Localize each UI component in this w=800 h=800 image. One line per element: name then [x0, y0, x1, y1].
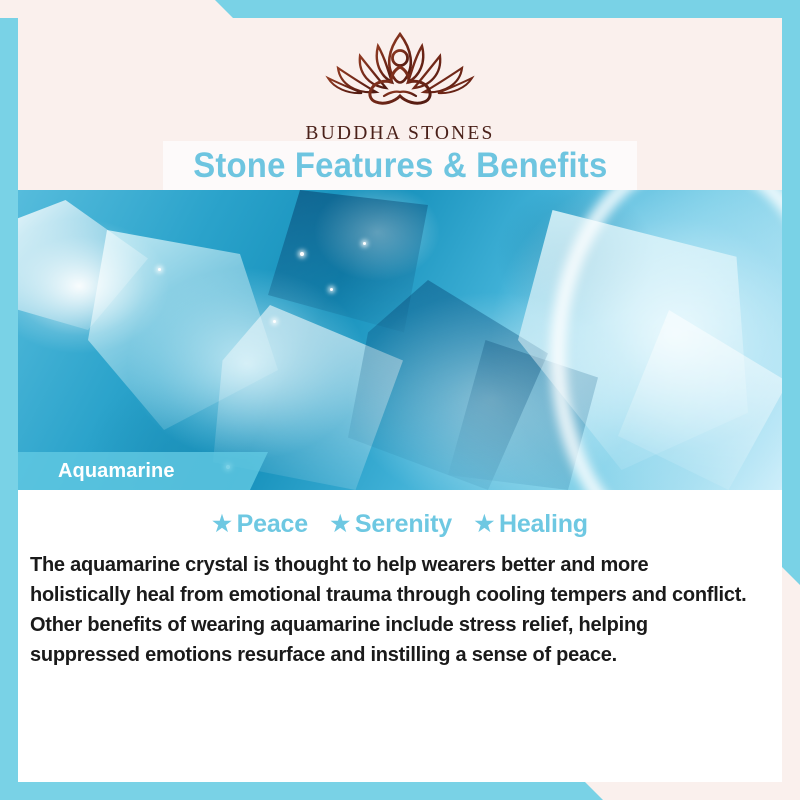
star-icon: ★ [330, 511, 350, 536]
description-text: The aquamarine crystal is thought to hel… [30, 550, 752, 670]
star-icon: ★ [474, 511, 494, 536]
frame-accent-right [782, 0, 800, 800]
brand-logo: BUDDHA STONES [18, 26, 782, 145]
lotus-meditation-icon [314, 26, 486, 122]
benefit-item-healing: ★Healing [474, 510, 587, 539]
benefit-item-serenity: ★Serenity [330, 510, 452, 539]
benefit-label: Serenity [355, 510, 452, 538]
benefit-item-peace: ★Peace [212, 510, 308, 539]
content-card: BUDDHA STONES Stone Features & Benefits [18, 18, 782, 782]
sparkle [158, 268, 161, 271]
poster: BUDDHA STONES Stone Features & Benefits [0, 0, 800, 800]
benefit-label: Healing [499, 510, 588, 538]
crystal-rim-highlight [550, 190, 782, 490]
frame-accent-left [0, 18, 18, 800]
frame-accent-bottom [0, 782, 800, 800]
star-icon: ★ [212, 511, 232, 536]
sparkle [273, 320, 276, 323]
stone-name-label: Aquamarine [18, 452, 268, 490]
section-title-banner: Stone Features & Benefits [163, 141, 637, 190]
aquamarine-crystal-photo: Aquamarine [18, 190, 782, 490]
benefit-label: Peace [237, 510, 308, 538]
sparkle [300, 252, 304, 256]
stone-name-text: Aquamarine [58, 460, 175, 483]
sparkle [330, 288, 333, 291]
frame-accent-top [0, 0, 800, 18]
page-title: Stone Features & Benefits [193, 146, 607, 186]
photo-facets [18, 190, 782, 490]
benefits-row: ★Peace ★Serenity ★Healing [18, 510, 782, 539]
sparkle [363, 242, 366, 245]
